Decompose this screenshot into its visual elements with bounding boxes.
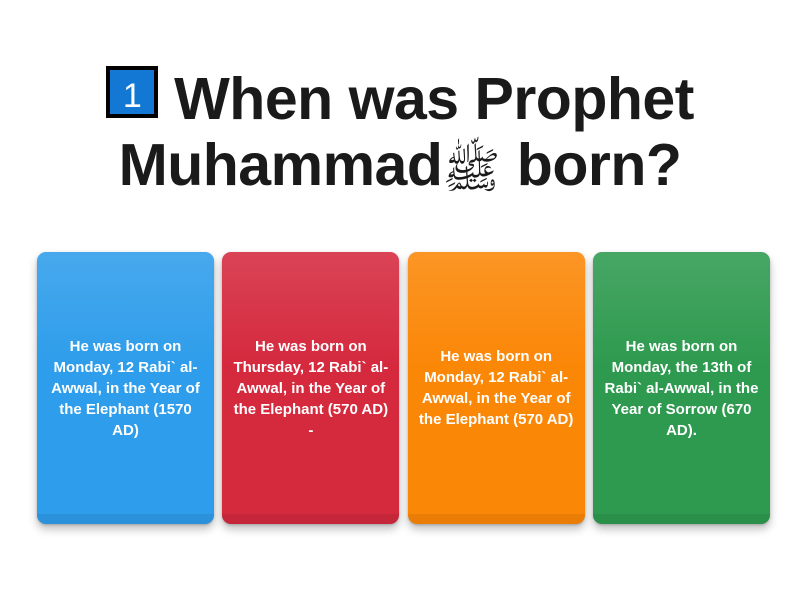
answer-option-4-label: He was born on Monday, the 13th of Rabi`… (604, 336, 759, 441)
answer-option-1[interactable]: He was born on Monday, 12 Rabi` al-Awwal… (37, 252, 214, 524)
answer-options-row: He was born on Monday, 12 Rabi` al-Awwal… (37, 252, 770, 524)
answer-option-1-label: He was born on Monday, 12 Rabi` al-Awwal… (48, 336, 203, 441)
answer-option-3-label: He was born on Monday, 12 Rabi` al-Awwal… (419, 346, 574, 430)
answer-option-2-label: He was born on Thursday, 12 Rabi` al-Aww… (233, 336, 388, 441)
question-line-1: 1When was Prophet (24, 66, 776, 132)
answer-option-3[interactable]: He was born on Monday, 12 Rabi` al-Awwal… (408, 252, 585, 524)
question-header: 1When was Prophet Muhammadﷺ born? (0, 66, 800, 199)
question-number-badge: 1 (106, 66, 158, 118)
question-line-2: Muhammadﷺ born? (24, 132, 776, 199)
answer-option-4[interactable]: He was born on Monday, the 13th of Rabi`… (593, 252, 770, 524)
question-title-part-1: When was Prophet (174, 66, 694, 132)
sallallahu-alayhi-wasallam-icon: ﷺ (442, 145, 500, 198)
question-title-part-2: Muhammad (119, 132, 443, 198)
question-title-part-3: born? (517, 132, 682, 198)
answer-option-2[interactable]: He was born on Thursday, 12 Rabi` al-Aww… (222, 252, 399, 524)
